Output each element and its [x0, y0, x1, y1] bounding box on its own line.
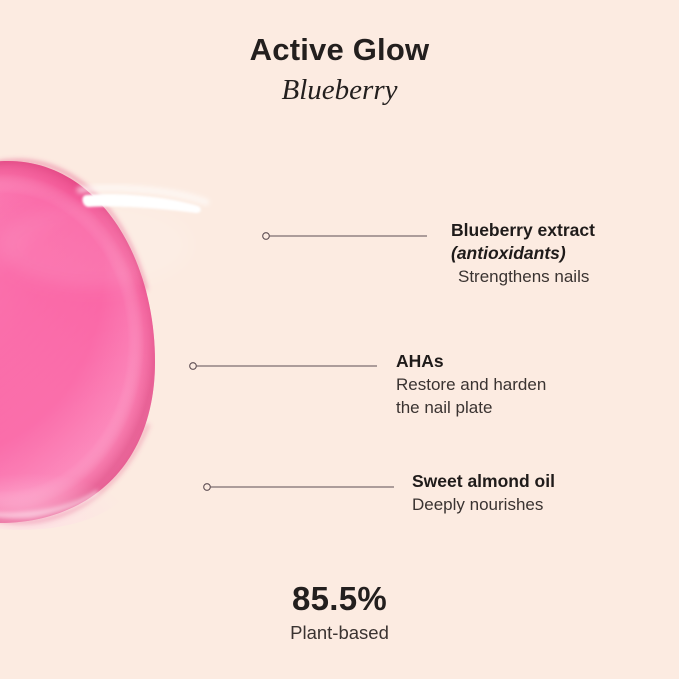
- plant-based-stat: 85.5% Plant-based: [0, 580, 679, 646]
- droplet-bottom-rim: [0, 424, 148, 522]
- callout-blueberry-extract: Blueberry extract (antioxidants) Strengt…: [451, 219, 595, 288]
- droplet-top-rim: [0, 161, 146, 290]
- droplet-bottom-sheen: [0, 492, 98, 515]
- leader-line-blueberry-extract: [260, 231, 432, 240]
- callout-title: Sweet almond oil: [412, 470, 555, 493]
- callout-description: Deeply nourishes: [412, 493, 555, 516]
- callout-title: Blueberry extract: [451, 219, 595, 242]
- leader-line-sweet-almond-oil: [201, 482, 399, 491]
- droplet-body: [0, 161, 155, 530]
- callout-ahas: AHAs Restore and harden the nail plate: [396, 350, 546, 419]
- droplet-svg: [0, 150, 350, 535]
- product-name: Active Glow: [0, 30, 679, 70]
- leader-line-ahas: [187, 361, 382, 370]
- droplet-upper-glow: [0, 203, 190, 287]
- callout-description: Strengthens nails: [451, 265, 595, 288]
- page-title: Active Glow Blueberry: [0, 30, 679, 109]
- stat-value: 85.5%: [0, 580, 679, 618]
- callout-title: AHAs: [396, 350, 546, 373]
- product-infographic: Active Glow Blueberry: [0, 0, 679, 679]
- product-variant: Blueberry: [0, 71, 679, 109]
- callout-description-line-1: Restore and harden: [396, 373, 546, 396]
- droplet-highlight: [80, 188, 206, 213]
- callout-subtitle: (antioxidants): [451, 242, 595, 265]
- stat-label: Plant-based: [0, 620, 679, 646]
- polish-droplet-illustration: [0, 150, 350, 535]
- callout-description-line-2: the nail plate: [396, 396, 546, 419]
- callout-sweet-almond-oil: Sweet almond oil Deeply nourishes: [412, 470, 555, 516]
